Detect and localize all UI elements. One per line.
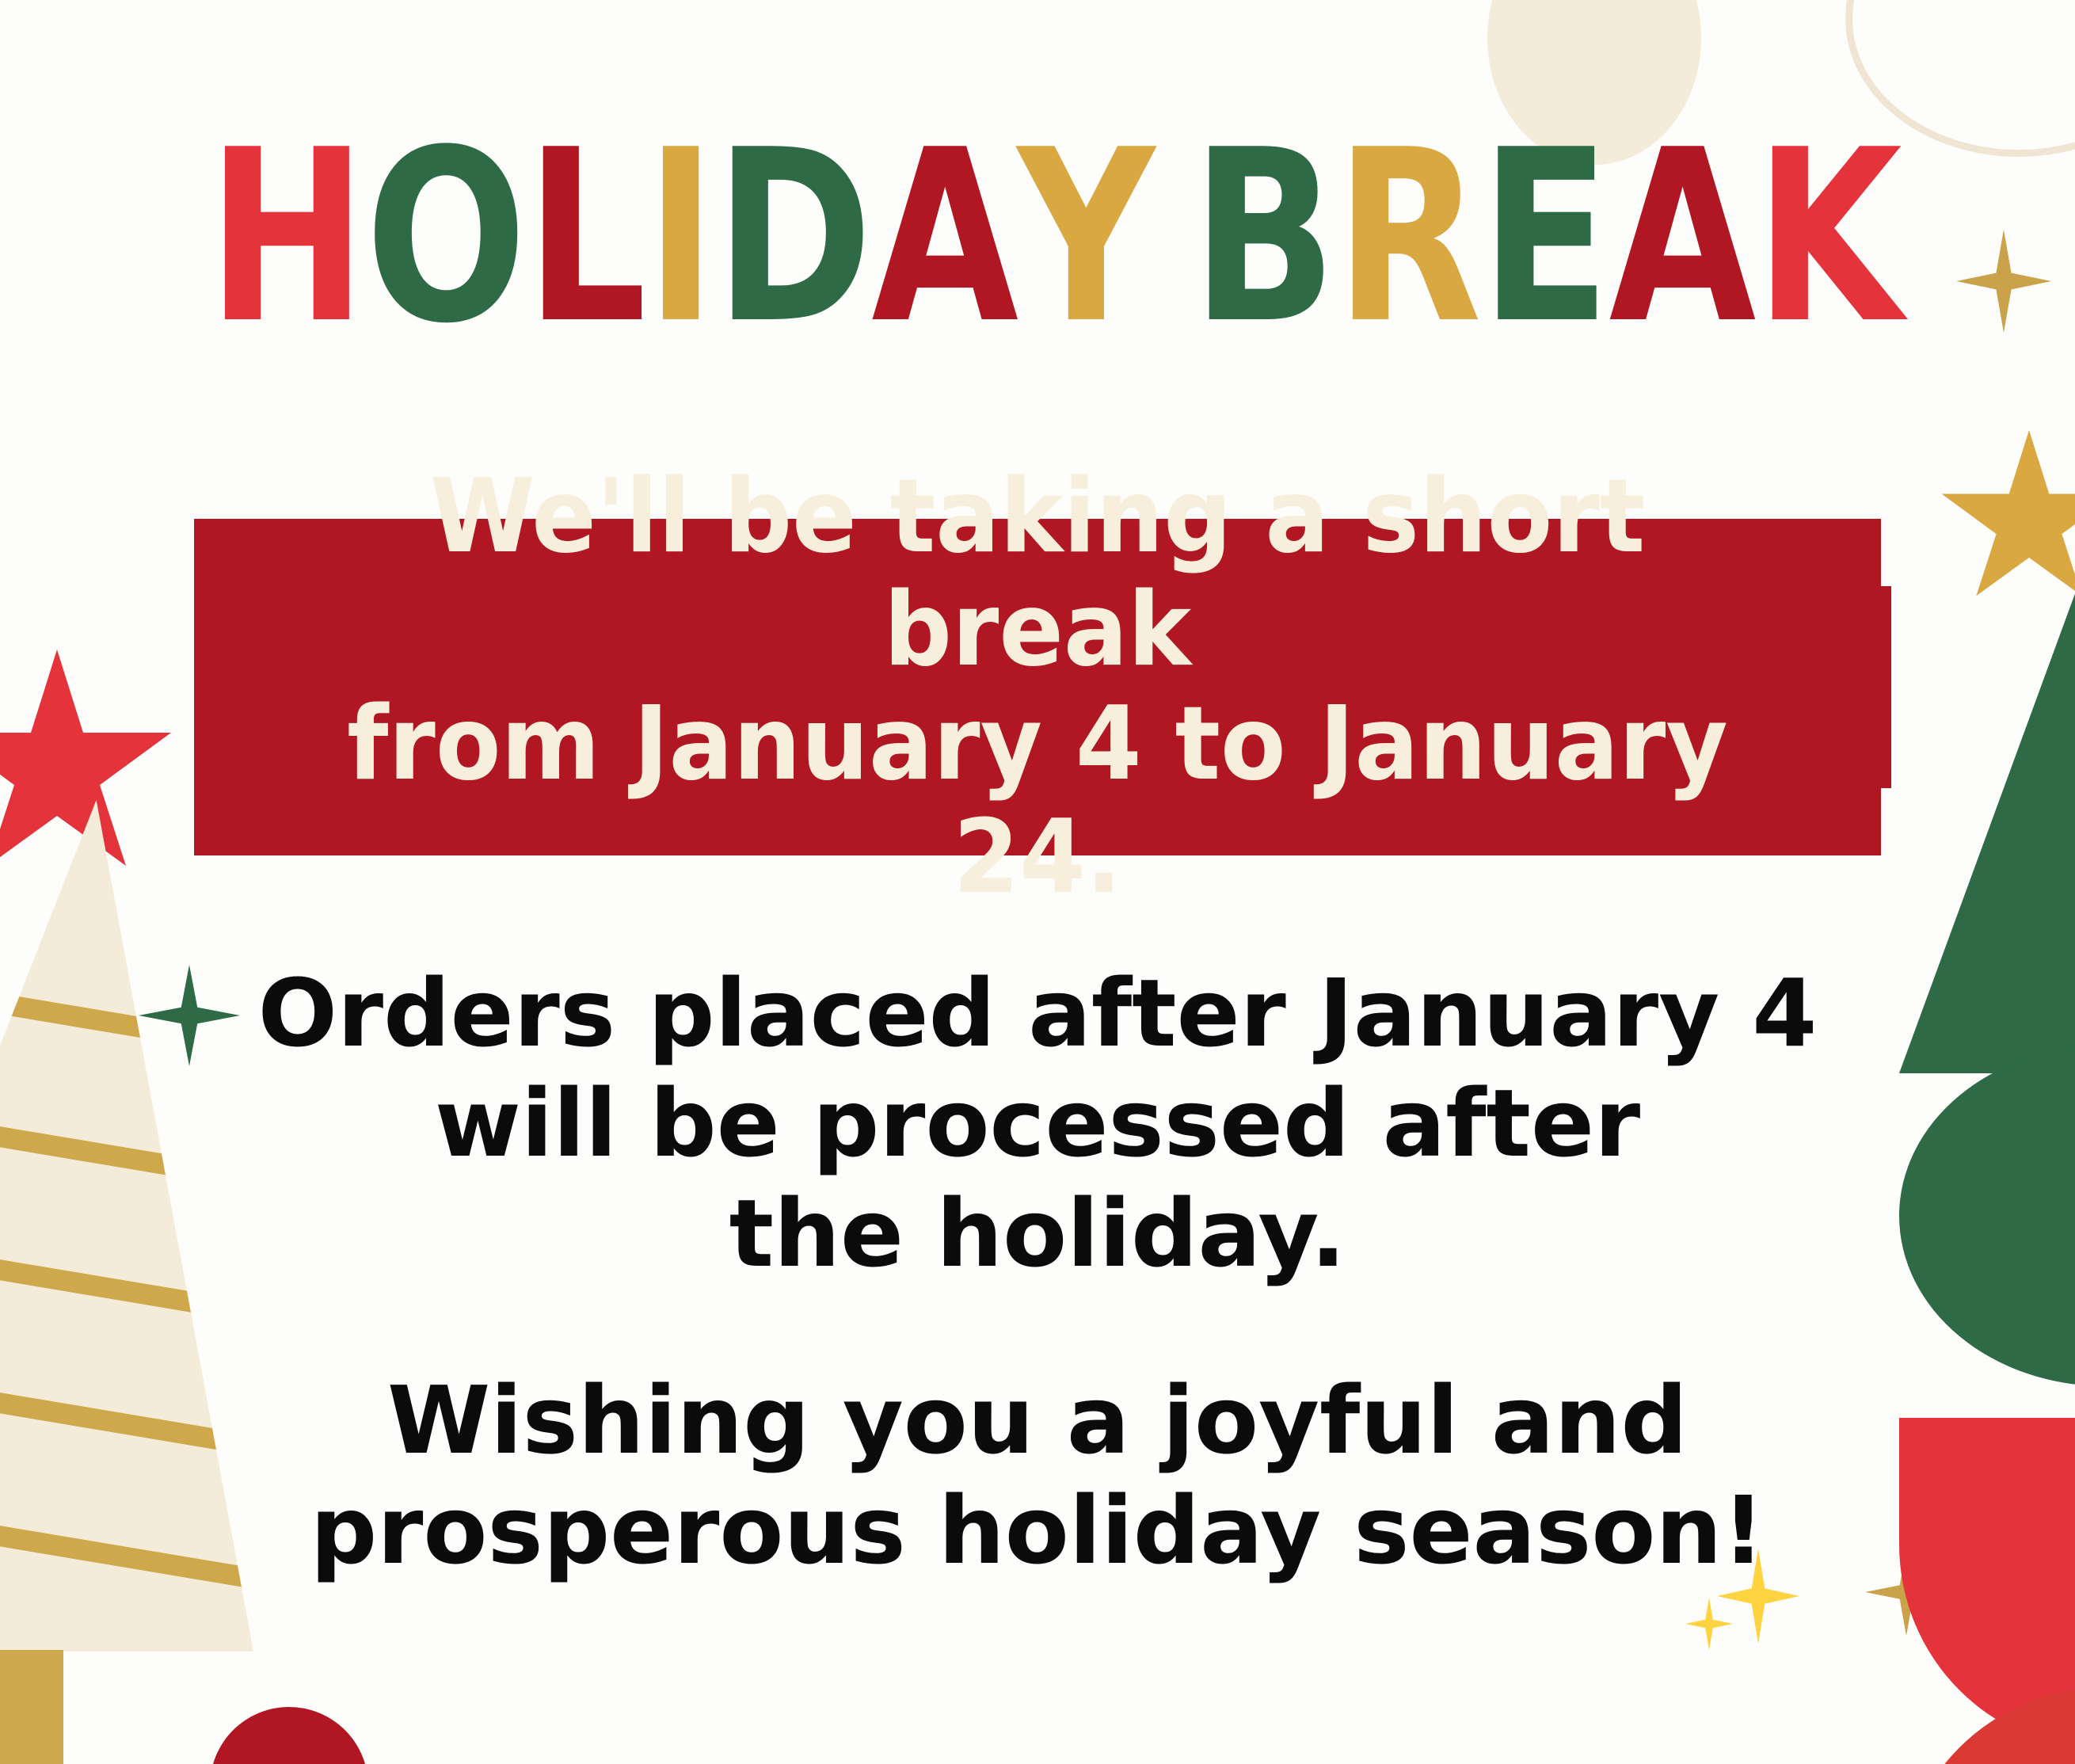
title-letter: K xyxy=(1755,119,1901,356)
body-line-5: prosperous holiday season! xyxy=(246,1476,1829,1586)
banner-text: We'll be taking a short break from Janua… xyxy=(275,460,1801,914)
sparkle-small-icon xyxy=(1685,1598,1733,1650)
title-letter: I xyxy=(645,119,715,356)
page-title: HOLIDAYBREAK xyxy=(207,119,1867,356)
body-line-4: Wishing you a joyful and xyxy=(246,1366,1829,1476)
title-letter: E xyxy=(1480,119,1609,356)
body-line-1: Orders placed after January 4 xyxy=(246,958,1829,1069)
banner-line-1: We'll be taking a short break xyxy=(430,458,1645,689)
body-line-3: the holiday. xyxy=(246,1179,1829,1289)
body-paragraph-1: Orders placed after January 4 will be pr… xyxy=(246,958,1829,1290)
holiday-break-poster: HOLIDAYBREAK We'll be taking a short bre… xyxy=(0,0,2075,1764)
body-text-block: Orders placed after January 4 will be pr… xyxy=(246,958,1829,1586)
title-letter: R xyxy=(1335,119,1480,356)
body-line-2: will be processed after xyxy=(246,1069,1829,1179)
title-letter: B xyxy=(1192,119,1335,356)
body-paragraph-2: Wishing you a joyful and prosperous holi… xyxy=(246,1366,1829,1586)
title-letter: A xyxy=(1609,119,1755,356)
title-letter: H xyxy=(207,119,365,356)
announcement-banner: We'll be taking a short break from Janua… xyxy=(194,519,1881,855)
title-letter: D xyxy=(715,119,872,356)
banner-line-2: from January 4 to January 24. xyxy=(347,685,1728,916)
title-letter: Y xyxy=(1018,119,1154,356)
title-letter: A xyxy=(871,119,1017,356)
title-letter: L xyxy=(526,119,645,356)
title-letter: O xyxy=(365,119,525,356)
